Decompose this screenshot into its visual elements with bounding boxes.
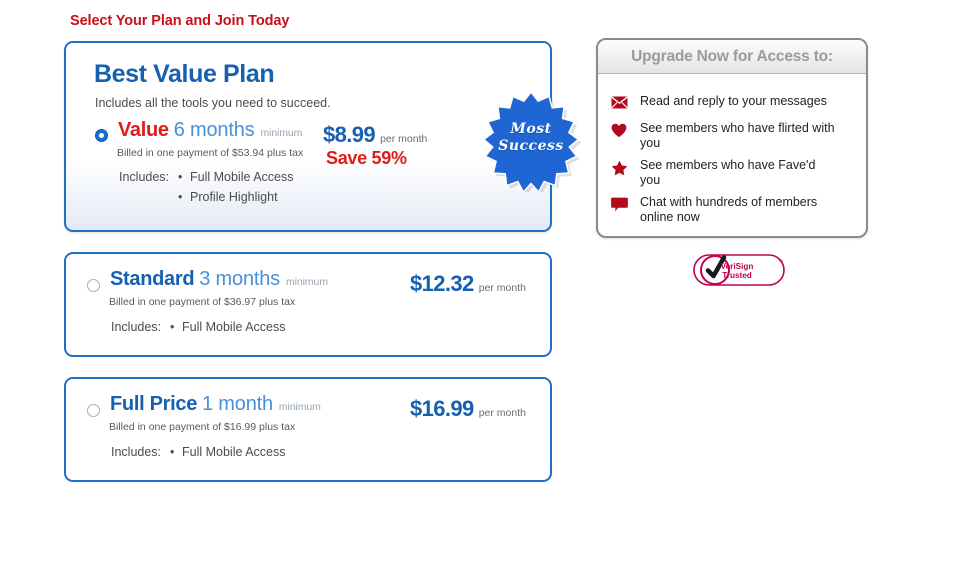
verisign-trusted-badge[interactable]: VeriSign Trusted ™ — [693, 250, 785, 290]
plan-include-item: •Full Mobile Access — [178, 170, 294, 184]
feature-text: Read and reply to your messages — [640, 94, 836, 109]
plan-name: Value — [118, 119, 169, 141]
plan-billed-note: Billed in one payment of $53.94 plus tax — [117, 147, 303, 159]
page-title: Select Your Plan and Join Today — [70, 13, 289, 29]
plan-card-full-price[interactable]: Full Price1 monthminimum Billed in one p… — [64, 377, 552, 482]
upgrade-panel-title: Upgrade Now for Access to: — [631, 48, 833, 66]
most-success-badge: Most Success — [479, 88, 583, 192]
plan-name: Full Price — [110, 393, 197, 415]
bullet-icon: • — [178, 170, 190, 184]
bullet-icon: • — [170, 320, 182, 334]
feature-text: See members who have flirted with you — [640, 121, 836, 150]
verisign-check-icon: VeriSign Trusted ™ — [693, 250, 785, 290]
plan-card-title: Best Value Plan — [94, 60, 274, 89]
feature-row-flirts: See members who have flirted with you — [598, 121, 868, 150]
plan-includes-label: Includes: — [119, 170, 169, 184]
plan-price-block: $8.99per month — [323, 122, 427, 148]
plan-save-badge: Save 59% — [326, 148, 407, 169]
plan-card-standard[interactable]: Standard3 monthsminimum Billed in one pa… — [64, 252, 552, 357]
speech-bubble-icon — [598, 195, 640, 212]
plan-include-item: •Profile Highlight — [178, 190, 278, 204]
plan-price: $12.32 — [410, 271, 474, 296]
plan-name: Standard — [110, 268, 194, 290]
envelope-icon — [598, 94, 640, 109]
plan-price-block: $12.32per month — [410, 271, 526, 297]
plan-price-period: per month — [380, 133, 427, 145]
upgrade-panel-header: Upgrade Now for Access to: — [598, 40, 866, 74]
plan-minimum-label: minimum — [260, 127, 302, 139]
plan-term: 6 months — [174, 119, 255, 141]
verisign-line-1: VeriSign — [721, 262, 754, 271]
star-icon — [598, 158, 640, 176]
plan-price: $8.99 — [323, 122, 375, 147]
plan-name-line: Full Price1 monthminimum — [110, 393, 321, 416]
plan-minimum-label: minimum — [279, 401, 321, 413]
plan-billed-note: Billed in one payment of $16.99 plus tax — [109, 421, 295, 433]
plan-include-text: Full Mobile Access — [190, 170, 294, 184]
plan-include-item: •Full Mobile Access — [170, 320, 286, 334]
starburst-icon — [479, 88, 583, 192]
plan-term: 3 months — [199, 268, 280, 290]
plan-term: 1 month — [202, 393, 273, 415]
radio-selected-icon[interactable] — [95, 129, 108, 142]
plan-include-text: Full Mobile Access — [182, 445, 286, 459]
feature-row-faves: See members who have Fave'd you — [598, 158, 868, 187]
plan-card-subtitle: Includes all the tools you need to succe… — [95, 96, 331, 110]
bullet-icon: • — [178, 190, 190, 204]
verisign-line-2: Trusted — [722, 271, 752, 280]
plan-billed-note: Billed in one payment of $36.97 plus tax — [109, 296, 295, 308]
plan-price-period: per month — [479, 282, 526, 294]
feature-text: Chat with hundreds of members online now — [640, 195, 836, 224]
plan-include-item: •Full Mobile Access — [170, 445, 286, 459]
plan-name-line: Value6 monthsminimum — [118, 119, 302, 142]
bullet-icon: • — [170, 445, 182, 459]
trademark-mark: ™ — [778, 259, 783, 265]
plan-name-line: Standard3 monthsminimum — [110, 268, 328, 291]
plan-include-text: Profile Highlight — [190, 190, 278, 204]
plan-price: $16.99 — [410, 396, 474, 421]
radio-unselected-icon[interactable] — [87, 404, 100, 417]
plan-price-period: per month — [479, 407, 526, 419]
plan-minimum-label: minimum — [286, 276, 328, 288]
plan-includes-label: Includes: — [111, 320, 161, 334]
heart-icon — [598, 121, 640, 138]
plan-price-block: $16.99per month — [410, 396, 526, 422]
plan-selection-page: Select Your Plan and Join Today Best Val… — [0, 0, 960, 561]
feature-text: See members who have Fave'd you — [640, 158, 836, 187]
radio-unselected-icon[interactable] — [87, 279, 100, 292]
upgrade-now-panel: Upgrade Now for Access to: Read and repl… — [596, 38, 868, 238]
plan-include-text: Full Mobile Access — [182, 320, 286, 334]
plan-includes-label: Includes: — [111, 445, 161, 459]
feature-row-messages: Read and reply to your messages — [598, 94, 868, 109]
feature-row-chat: Chat with hundreds of members online now — [598, 195, 868, 224]
